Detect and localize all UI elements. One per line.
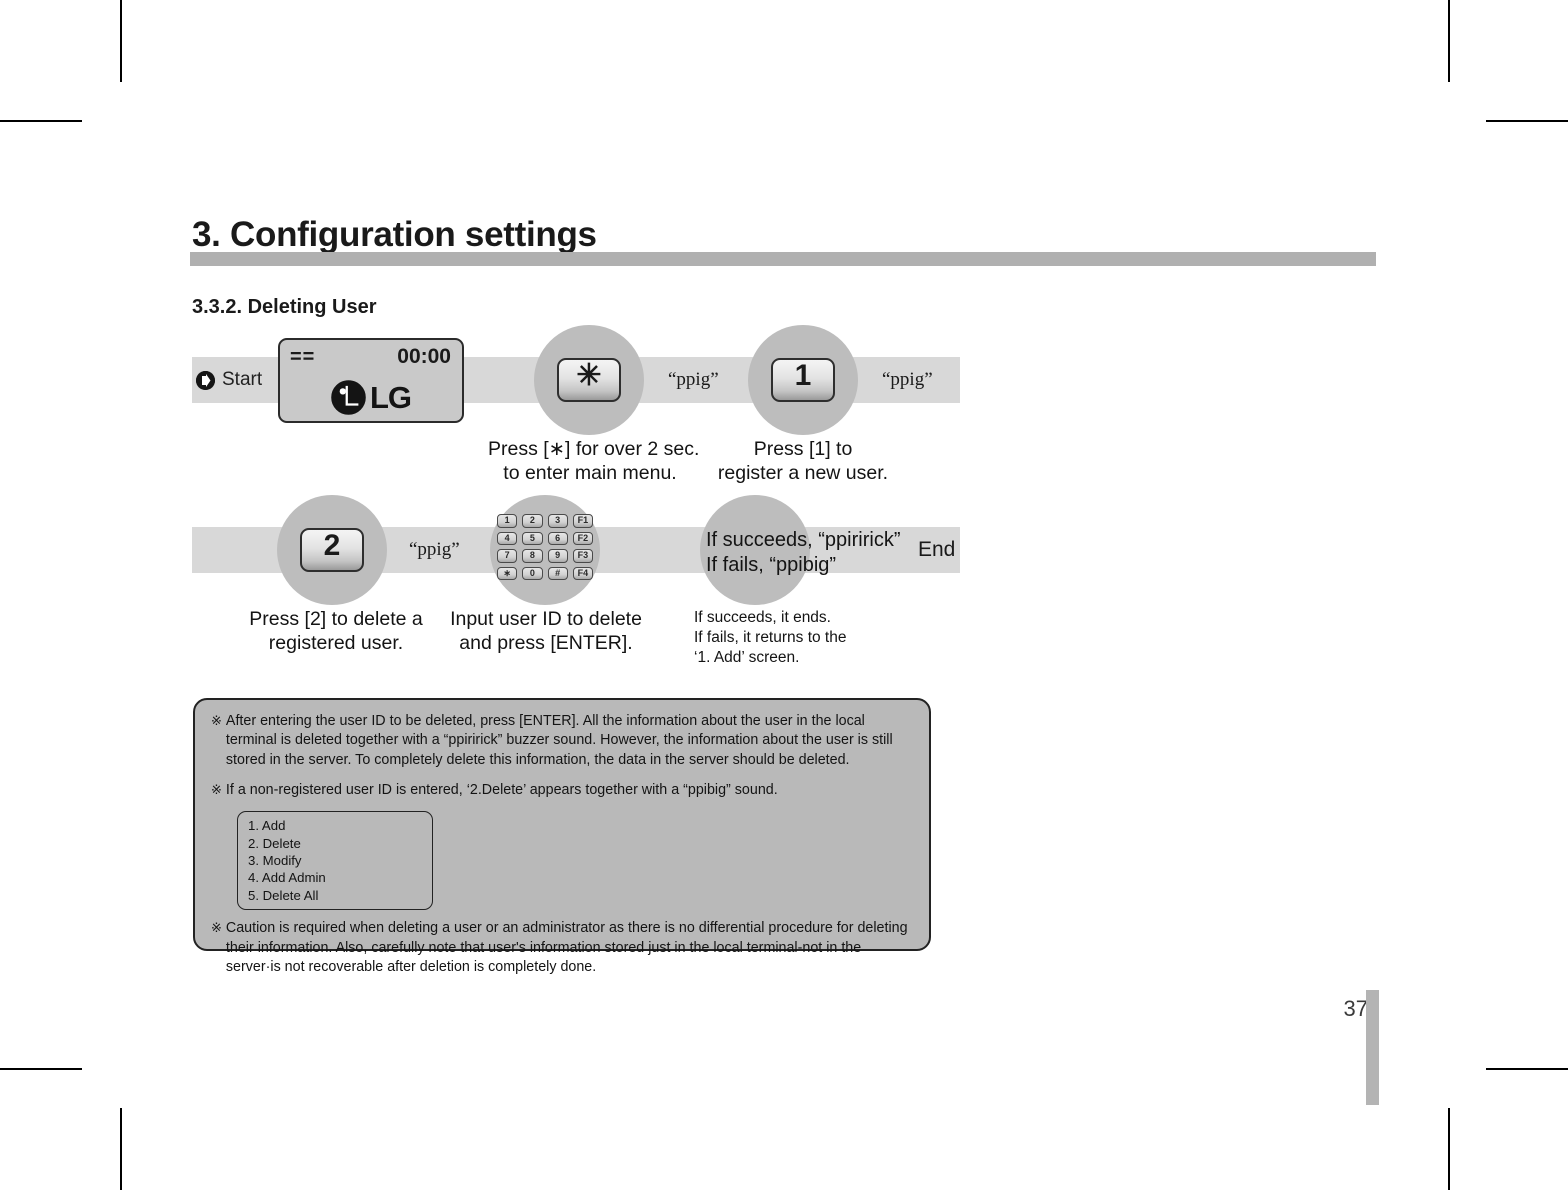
keypad-key-F3[interactable]: F3 [573, 549, 593, 563]
result-success-line: If succeeds, “ppiririck” [706, 528, 901, 553]
keypad-key-F1[interactable]: F1 [573, 514, 593, 528]
note-mark-icon: ※ [211, 712, 222, 770]
keypad-key-4[interactable]: 4 [497, 532, 517, 546]
lcd-left-indicator: == [290, 346, 315, 369]
keypad-key-F2[interactable]: F2 [573, 532, 593, 546]
lcd-clock: 00:00 [397, 345, 451, 369]
menu-option: 2. Delete [248, 835, 432, 852]
section-title: 3.3.2. Deleting User [192, 296, 377, 319]
crop-mark-bottom-right-vertical [1448, 1108, 1450, 1190]
caption-step-two-line2: registered user. [232, 631, 440, 655]
menu-option: 5. Delete All [248, 887, 432, 904]
caption-result-note-line1: If succeeds, it ends. [694, 608, 846, 628]
note-item: ※ If a non-registered user ID is entered… [211, 781, 913, 800]
caption-step-star: Press [∗] for over 2 sec. to enter main … [488, 437, 692, 486]
note-mark-icon: ※ [211, 781, 222, 800]
keypad-key-7[interactable]: 7 [497, 549, 517, 563]
caption-step-star-line2: to enter main menu. [488, 461, 692, 485]
key-2-label: 2 [324, 531, 341, 561]
result-fail-line: If fails, “ppibig” [706, 553, 901, 578]
key-star-label: ✳ [576, 361, 601, 391]
crop-mark-top-right-horizontal [1486, 120, 1568, 122]
lg-face-icon [331, 380, 366, 415]
key-1[interactable]: 1 [771, 358, 835, 402]
terminal-lcd-display: == 00:00 LG [278, 338, 464, 423]
page-number: 37 [1344, 996, 1368, 1022]
caption-step-keypad: Input user ID to delete and press [ENTER… [450, 607, 642, 656]
key-1-label: 1 [795, 361, 812, 391]
keypad-key-3[interactable]: 3 [548, 514, 568, 528]
keypad-key-2[interactable]: 2 [522, 514, 542, 528]
key-2[interactable]: 2 [300, 528, 364, 572]
chapter-title-rule [190, 252, 1376, 266]
flow-start-label: Start [222, 369, 262, 391]
lg-logo: LG [280, 380, 462, 415]
crop-mark-bottom-left-horizontal [0, 1068, 82, 1070]
keypad-key-0[interactable]: 0 [522, 567, 542, 581]
keypad-key-1[interactable]: 1 [497, 514, 517, 528]
keypad-key-#[interactable]: # [548, 567, 568, 581]
crop-mark-top-left-vertical [120, 0, 122, 82]
crop-mark-bottom-right-horizontal [1486, 1068, 1568, 1070]
manual-page: 3. Configuration settings 3.3.2. Deletin… [0, 0, 1568, 1190]
keypad-key-5[interactable]: 5 [522, 532, 542, 546]
menu-options-box: 1. Add2. Delete3. Modify4. Add Admin5. D… [237, 811, 433, 910]
note-item: ※ Caution is required when deleting a us… [211, 919, 913, 977]
menu-option: 4. Add Admin [248, 869, 432, 886]
caption-step-keypad-line2: and press [ENTER]. [450, 631, 642, 655]
note-text: Caution is required when deleting a user… [226, 919, 913, 977]
menu-option: 3. Modify [248, 852, 432, 869]
numeric-keypad[interactable]: 123F1456F2789F3∗0#F4 [497, 514, 593, 580]
crop-mark-bottom-left-vertical [120, 1108, 122, 1190]
crop-mark-top-left-horizontal [0, 120, 82, 122]
crop-mark-top-right-vertical [1448, 0, 1450, 82]
note-item: ※ After entering the user ID to be delet… [211, 712, 913, 770]
result-message: If succeeds, “ppiririck” If fails, “ppib… [706, 528, 901, 578]
page-number-bar [1366, 990, 1379, 1105]
flow-end-label: End [918, 538, 955, 562]
play-arrow-icon [196, 371, 215, 390]
caption-result-note-line3: ‘1. Add’ screen. [694, 648, 846, 668]
keypad-key-F4[interactable]: F4 [573, 567, 593, 581]
caption-step-keypad-line1: Input user ID to delete [450, 607, 642, 631]
caption-step-two: Press [2] to delete a registered user. [232, 607, 440, 656]
note-mark-icon: ※ [211, 919, 222, 977]
caption-result-note: If succeeds, it ends. If fails, it retur… [694, 608, 846, 668]
caption-step-one: Press [1] to register a new user. [710, 437, 896, 486]
keypad-key-6[interactable]: 6 [548, 532, 568, 546]
chapter-title: 3. Configuration settings [192, 215, 597, 255]
notes-box: ※ After entering the user ID to be delet… [193, 698, 931, 951]
keypad-key-8[interactable]: 8 [522, 549, 542, 563]
sound-label-ppig-2: “ppig” [882, 369, 933, 391]
caption-step-two-line1: Press [2] to delete a [232, 607, 440, 631]
caption-result-note-line2: If fails, it returns to the [694, 628, 846, 648]
flow-start: Start [196, 369, 262, 391]
note-text: If a non-registered user ID is entered, … [226, 781, 913, 800]
caption-step-one-line1: Press [1] to [710, 437, 896, 461]
sound-label-ppig-3: “ppig” [409, 539, 460, 561]
keypad-key-∗[interactable]: ∗ [497, 567, 517, 581]
key-star[interactable]: ✳ [557, 358, 621, 402]
lg-wordmark: LG [370, 382, 411, 413]
menu-option: 1. Add [248, 817, 432, 834]
caption-step-star-line1: Press [∗] for over 2 sec. [488, 437, 692, 461]
caption-step-one-line2: register a new user. [710, 461, 896, 485]
sound-label-ppig-1: “ppig” [668, 369, 719, 391]
keypad-key-9[interactable]: 9 [548, 549, 568, 563]
note-text: After entering the user ID to be deleted… [226, 712, 913, 770]
